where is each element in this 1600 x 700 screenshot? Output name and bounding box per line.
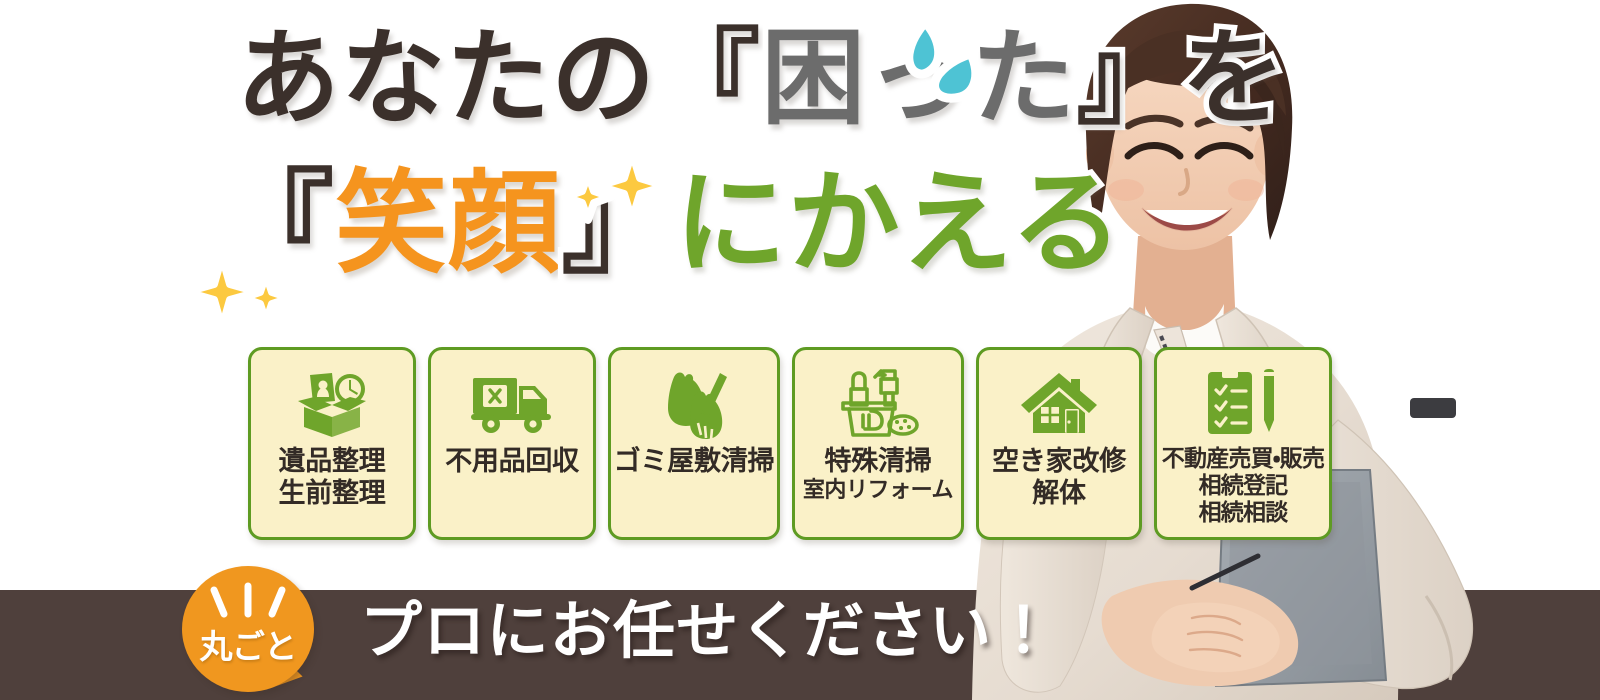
service-card-label-line: 不用品回収 xyxy=(445,446,579,478)
service-banner: あなたの『困った』を 『笑顔』にかえる xyxy=(0,0,1600,700)
service-card-akiya-kaishu[interactable]: 空き家改修 解体 xyxy=(976,347,1142,540)
service-card-fuyohin-kaishu[interactable]: 不用品回収 xyxy=(428,347,596,540)
truck-icon xyxy=(469,366,555,440)
service-card-labels: 遺品整理 生前整理 xyxy=(279,446,386,510)
headline-seg-open-bracket-1: 『 xyxy=(656,17,761,139)
service-card-label-line: 室内リフォーム xyxy=(803,478,953,504)
service-card-label-line: 相続登記 xyxy=(1162,473,1324,500)
service-card-gomiyashiki-seiso[interactable]: ゴミ屋敷清掃 xyxy=(608,347,780,540)
service-card-ihin-seiri[interactable]: 遺品整理 生前整理 xyxy=(248,347,416,540)
sparkle-icon xyxy=(560,148,670,233)
service-card-label-line: 特殊清掃 xyxy=(803,446,953,478)
service-card-label-line: 解体 xyxy=(992,478,1126,510)
open-box-photo-clock-icon xyxy=(290,366,374,440)
sparkle-icon xyxy=(186,250,296,335)
headline-seg-egao: 笑顔 xyxy=(335,159,561,289)
service-card-labels: 特殊清掃 室内リフォーム xyxy=(803,446,953,504)
speech-bubble-label: 丸ごと xyxy=(182,620,314,668)
service-card-labels: ゴミ屋敷清掃 xyxy=(614,446,774,478)
service-card-label-line: 空き家改修 xyxy=(992,446,1126,478)
headline-seg-open-bracket-2: 『 xyxy=(222,159,335,289)
service-card-label-line: 遺品整理 xyxy=(279,446,386,478)
service-card-label-line: 不動産売買・販売 xyxy=(1162,446,1324,473)
cleaning-bucket-icon xyxy=(835,366,921,440)
headline-seg-anatano: あなたの xyxy=(236,17,656,139)
tagline: プロにお任せください！ xyxy=(360,600,1056,662)
service-card-label-line: ゴミ屋敷清掃 xyxy=(614,446,774,478)
service-card-label-line: 相続相談 xyxy=(1162,500,1324,527)
service-card-labels: 空き家改修 解体 xyxy=(992,446,1126,510)
house-icon xyxy=(1019,366,1099,440)
service-card-tokushu-seiso[interactable]: 特殊清掃 室内リフォーム xyxy=(792,347,964,540)
service-card-labels: 不動産売買・販売 相続登記 相続相談 xyxy=(1162,446,1324,527)
marugoto-speech-bubble: 丸ごと xyxy=(182,566,314,698)
service-card-label-line: 生前整理 xyxy=(279,478,386,510)
service-card-list: 遺品整理 生前整理 不用 xyxy=(0,347,1600,547)
garbage-bags-broom-icon xyxy=(654,366,734,440)
headline-seg-close-bracket-2: 』 xyxy=(561,159,674,289)
service-card-labels: 不用品回収 xyxy=(445,446,579,478)
service-card-fudosan-baibai[interactable]: 不動産売買・販売 相続登記 相続相談 xyxy=(1154,347,1332,540)
clipboard-pencil-icon xyxy=(1204,366,1282,440)
